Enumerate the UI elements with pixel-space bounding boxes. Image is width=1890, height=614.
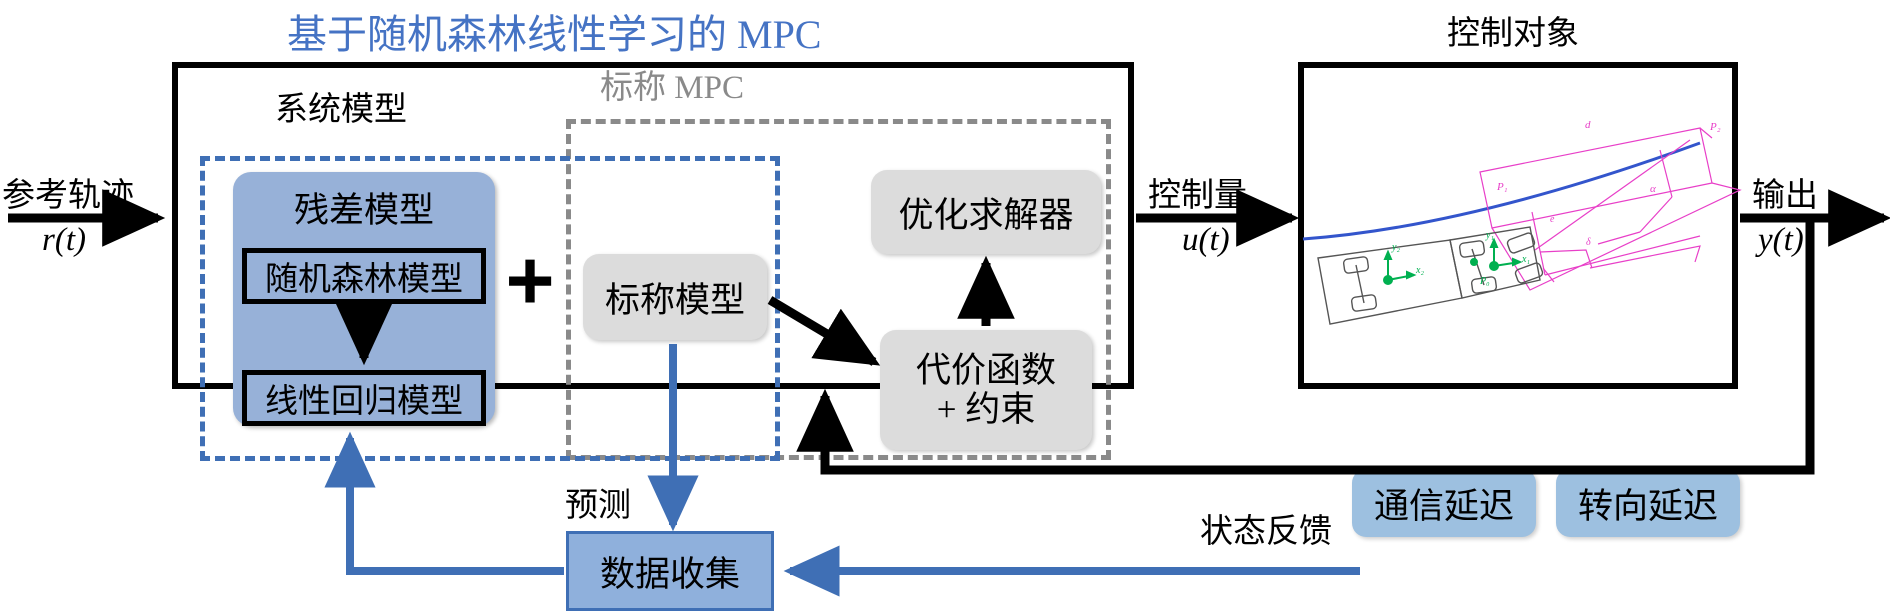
linear-regression-model-box[interactable]: 线性回归模型 — [242, 370, 486, 426]
cost-function-line2: + 约束 — [937, 390, 1036, 429]
steering-delay-card[interactable]: 转向延迟 — [1556, 469, 1740, 537]
output-symbol: y(t) — [1758, 222, 1804, 259]
random-forest-model-box[interactable]: 随机森林模型 — [242, 248, 486, 304]
nominal-mpc-label: 标称 MPC — [600, 60, 744, 108]
control-quantity-label: 控制量 — [1148, 168, 1247, 216]
output-label: 输出 — [1752, 168, 1818, 216]
residual-model-label: 残差模型 — [233, 181, 495, 233]
control-symbol: u(t) — [1182, 222, 1230, 259]
cost-function-line1: 代价函数 — [916, 351, 1056, 390]
reference-trajectory-label: 参考轨迹 — [2, 168, 134, 216]
reference-symbol: r(t) — [42, 222, 86, 259]
page-title: 基于随机森林线性学习的 MPC — [287, 2, 822, 60]
data-collection-box[interactable]: 数据收集 — [566, 531, 774, 611]
prediction-label: 预测 — [565, 478, 631, 526]
plant-outer-box — [1298, 62, 1738, 389]
state-feedback-label: 状态反馈 — [1200, 504, 1332, 552]
plant-title: 控制对象 — [1447, 6, 1579, 54]
plus-operator: + — [500, 240, 560, 320]
communication-delay-card[interactable]: 通信延迟 — [1352, 469, 1536, 537]
cost-function-card[interactable]: 代价函数 + 约束 — [880, 330, 1092, 450]
nominal-model-card[interactable]: 标称模型 — [583, 254, 767, 340]
system-model-label: 系统模型 — [275, 82, 407, 130]
optimizer-card[interactable]: 优化求解器 — [871, 170, 1101, 254]
